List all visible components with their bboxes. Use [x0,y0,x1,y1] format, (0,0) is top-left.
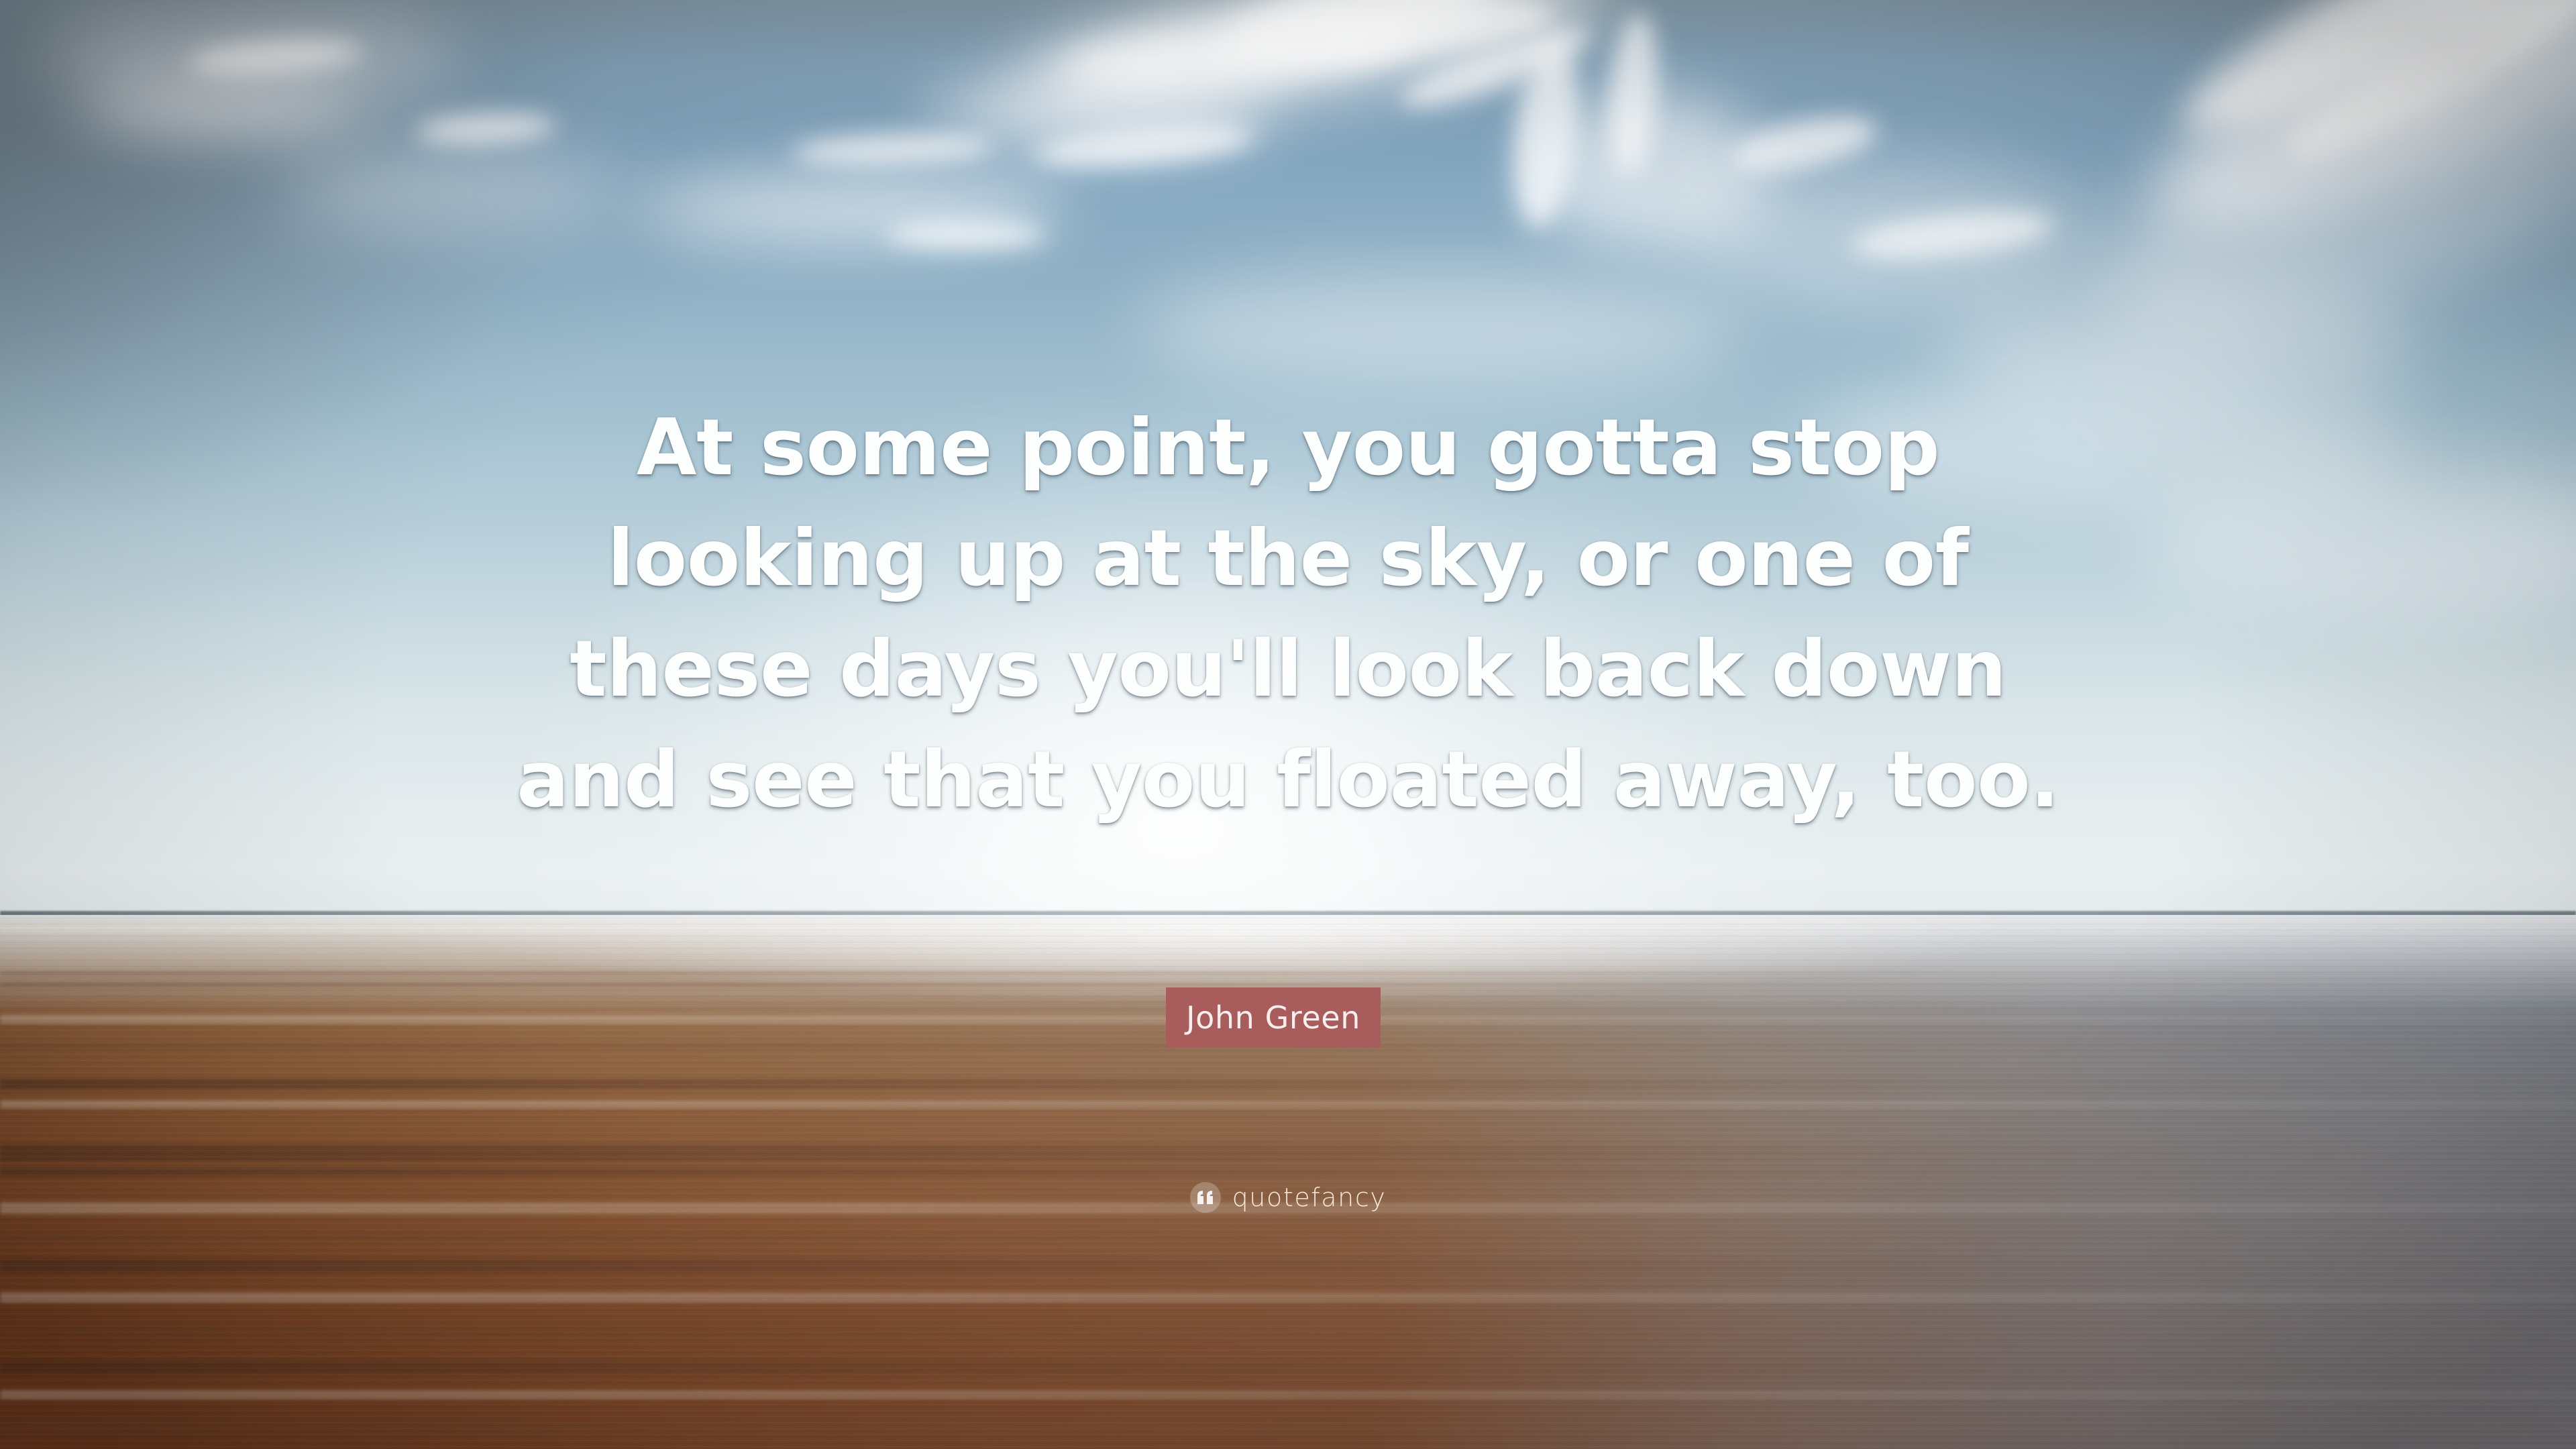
cloud-wisp [791,131,993,168]
quote-line: At some point, you gotta stop [0,392,2576,503]
cloud-wisp [885,221,1046,248]
cloud-wisp [415,111,557,148]
quote-line: and see that you floated away, too. [0,724,2576,835]
quote-line: looking up at the sky, or one of [0,503,2576,614]
cloud-wisp [1140,268,1744,389]
cloud-wisp [282,154,631,228]
wallpaper-canvas: At some point, you gotta stop looking up… [0,0,2576,1449]
double-quote-icon [1190,1182,1221,1213]
quote-text-block: At some point, you gotta stop looking up… [0,392,2576,835]
author-badge: John Green [1166,987,1381,1048]
cloud-wisp [40,7,456,107]
author-name: John Green [1186,1000,1360,1036]
watermark-brand: quotefancy [1232,1183,1387,1212]
watermark: quotefancy [0,1182,2576,1213]
quote-line: these days you'll look back down [0,614,2576,724]
